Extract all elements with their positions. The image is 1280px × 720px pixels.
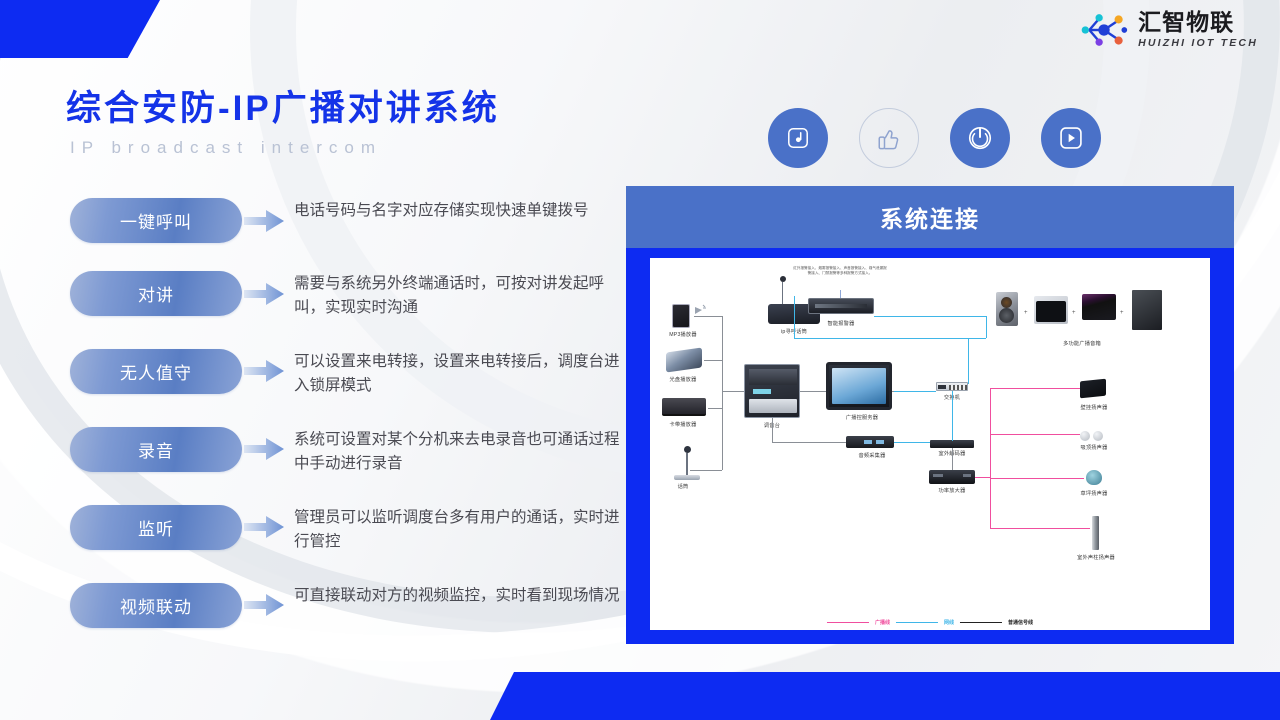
device-tape-player: [662, 398, 706, 416]
arrow-icon: [242, 198, 288, 243]
feature-pill-recording[interactable]: 录音: [70, 427, 242, 472]
feature-pill-intercom[interactable]: 对讲: [70, 271, 242, 316]
network-molecule-icon: [1078, 10, 1130, 50]
feature-desc: 需要与系统另外终端通话时，可按对讲发起呼叫，实现实时沟通: [288, 271, 630, 321]
feature-pill-monitoring[interactable]: 监听: [70, 505, 242, 550]
thumbs-up-icon: [874, 123, 904, 153]
brand-name-en: HUIZHI IOT TECH: [1138, 38, 1258, 49]
device-outdoor-decoder: [930, 440, 974, 448]
arrow-icon: [242, 427, 288, 472]
legend-label-signal: 普通信号线: [1008, 619, 1033, 626]
device-mixer: [744, 364, 800, 418]
arrow-icon: [242, 271, 288, 316]
power-icon: [965, 123, 995, 153]
icon-button-row: [768, 108, 1101, 168]
device-broadcast-speaker-d: [1132, 290, 1162, 330]
device-mp3-player: [672, 304, 690, 328]
device-smart-alarm: [808, 298, 874, 314]
device-microphone: [674, 446, 700, 480]
music-note-icon-button[interactable]: [768, 108, 828, 168]
feature-row: 无人值守 可以设置来电转接，设置来电转接后，调度台进入锁屏模式: [70, 349, 630, 399]
device-label: 卡带播放器: [670, 421, 697, 428]
corner-shape-bottom-right: [490, 672, 1280, 720]
device-audio-collector: [846, 436, 894, 448]
feature-pill-one-key-call[interactable]: 一键呼叫: [70, 198, 242, 243]
device-outdoor-column-speaker: [1092, 516, 1099, 550]
device-label: 话筒: [678, 483, 689, 490]
brand-name-cn: 汇智物联: [1138, 11, 1258, 34]
play-icon-button[interactable]: [1041, 108, 1101, 168]
plus-separator: +: [1072, 310, 1076, 316]
panel-title: 系统连接: [626, 186, 1234, 248]
page-subtitle: IP broadcast intercom: [70, 138, 382, 158]
device-power-amplifier: [929, 470, 975, 484]
brand-logo: 汇智物联 HUIZHI IOT TECH: [1078, 10, 1258, 50]
feature-row: 监听 管理员可以监听调度台多有用户的通话，实时进行管控: [70, 505, 630, 555]
device-label: MP3播放器: [669, 331, 696, 338]
device-broadcast-server: [826, 362, 892, 410]
device-broadcast-speaker-a: [996, 292, 1018, 326]
power-icon-button[interactable]: [950, 108, 1010, 168]
feature-row: 对讲 需要与系统另外终端通话时，可按对讲发起呼叫，实现实时沟通: [70, 271, 630, 321]
device-label: 音频采集器: [859, 452, 886, 459]
panel-body: 红外报警接入、烟雾报警接入、声音报警接入、煤气泄漏报警接入、门禁报警等多种报警方…: [650, 258, 1210, 630]
feature-list: 一键呼叫 电话号码与名字对应存储实现快速单键拨号 对讲 需要与系统另外终端通话时…: [70, 198, 630, 637]
signal-icon: [693, 303, 707, 317]
feature-row: 视频联动 可直接联动对方的视频监控，实时看到现场情况: [70, 583, 630, 628]
device-disc-player: [666, 347, 702, 372]
plus-separator: +: [1024, 310, 1028, 316]
system-connection-panel: 系统连接 红外报警接入、烟雾报警接入、声音报警接入、煤气泄漏报警接入、门禁报警等…: [626, 186, 1234, 644]
plus-separator: +: [1120, 310, 1124, 316]
feature-desc: 系统可设置对某个分机来去电录音也可通话过程中手动进行录音: [288, 427, 630, 477]
device-label: 壁挂扬声器: [1081, 404, 1108, 411]
legend-label-network: 网线: [944, 619, 954, 626]
legend-label-broadcast: 广播线: [875, 619, 890, 626]
diagram-legend: 广播线 网线 普通信号线: [827, 619, 1033, 626]
corner-shape-top-left: [0, 0, 160, 58]
feature-row: 一键呼叫 电话号码与名字对应存储实现快速单键拨号: [70, 198, 630, 243]
page-title: 综合安防-IP广播对讲系统: [66, 80, 500, 131]
feature-desc: 电话号码与名字对应存储实现快速单键拨号: [288, 198, 630, 223]
play-icon: [1057, 124, 1085, 152]
feature-row: 录音 系统可设置对某个分机来去电录音也可通话过程中手动进行录音: [70, 427, 630, 477]
feature-desc: 可直接联动对方的视频监控，实时看到现场情况: [288, 583, 630, 608]
feature-pill-unattended[interactable]: 无人值守: [70, 349, 242, 394]
device-label: 吸顶扬声器: [1081, 444, 1108, 451]
music-note-icon: [785, 125, 811, 151]
device-label: 广播控服务器: [846, 414, 878, 421]
device-broadcast-speaker-b: [1034, 296, 1068, 324]
system-connection-diagram: 红外报警接入、烟雾报警接入、声音报警接入、煤气泄漏报警接入、门禁报警等多种报警方…: [650, 258, 1210, 630]
device-label: 多功能广播音箱: [1063, 340, 1101, 347]
feature-pill-video-linkage[interactable]: 视频联动: [70, 583, 242, 628]
device-label: 智能报警器: [828, 320, 855, 327]
device-label: 室外声柱扬声器: [1077, 554, 1115, 561]
device-broadcast-speaker-c: [1082, 294, 1116, 320]
thumbs-up-icon-button[interactable]: [859, 108, 919, 168]
device-network-switch: [936, 382, 968, 391]
arrow-icon: [242, 583, 288, 628]
feature-desc: 管理员可以监听调度台多有用户的通话，实时进行管控: [288, 505, 630, 555]
device-lawn-speaker: [1086, 470, 1102, 485]
device-label: 功率放大器: [939, 487, 966, 494]
device-wall-speaker: [1080, 379, 1106, 399]
arrow-icon: [242, 349, 288, 394]
feature-desc: 可以设置来电转接，设置来电转接后，调度台进入锁屏模式: [288, 349, 630, 399]
arrow-icon: [242, 505, 288, 550]
device-label: 光盘播放器: [670, 376, 697, 383]
device-label: 草坪扬声器: [1081, 490, 1108, 497]
